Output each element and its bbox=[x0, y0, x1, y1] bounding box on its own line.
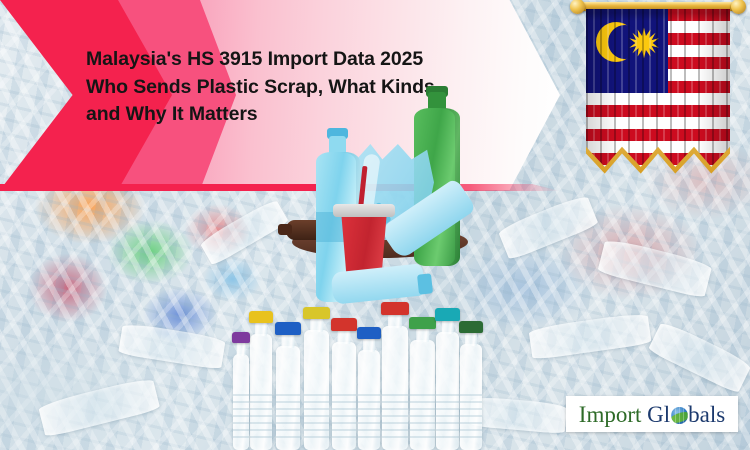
red-disposable-cup-icon bbox=[338, 212, 390, 274]
flag-cloth bbox=[586, 9, 730, 177]
pet-bottle bbox=[332, 342, 356, 450]
pet-bottle bbox=[460, 344, 482, 450]
pet-bottle bbox=[276, 346, 300, 450]
bottle-cap bbox=[459, 321, 483, 333]
bottle-cap bbox=[275, 322, 301, 335]
bottle-cap bbox=[232, 332, 250, 343]
bottle-ribs bbox=[250, 394, 272, 440]
infographic-banner: Malaysia's HS 3915 Import Data 2025 Who … bbox=[0, 0, 750, 450]
pet-bottle bbox=[436, 332, 459, 450]
bottle-cap bbox=[249, 311, 273, 323]
plastic-waste-illustration bbox=[286, 108, 496, 308]
star-14-point-icon bbox=[628, 27, 660, 59]
title-line-2: Who Sends Plastic Scrap, What Kinds, bbox=[86, 74, 516, 102]
logo-word-import: Import bbox=[579, 402, 642, 427]
cup-lid bbox=[333, 204, 395, 217]
logo-word-globals-post: bals bbox=[688, 402, 725, 427]
pet-bottle bbox=[233, 354, 249, 450]
flat-bottle-cap bbox=[417, 273, 433, 294]
bottle-ribs bbox=[382, 394, 408, 440]
bottle-cap bbox=[409, 317, 436, 329]
bottle-cap bbox=[331, 318, 357, 331]
pet-bottle bbox=[410, 340, 435, 450]
title-line-1: Malaysia's HS 3915 Import Data 2025 bbox=[86, 46, 516, 74]
malaysia-flag-banner bbox=[582, 2, 734, 187]
bottle-cap bbox=[381, 302, 409, 315]
globe-icon bbox=[671, 407, 688, 424]
bottle-cap bbox=[435, 308, 460, 321]
logo-word-globals-pre: Gl bbox=[647, 402, 670, 427]
import-globals-logo[interactable]: Import Glbals bbox=[566, 396, 738, 432]
pet-bottle bbox=[250, 334, 272, 450]
bottle-ribs bbox=[304, 394, 329, 440]
pet-bottle bbox=[304, 330, 329, 450]
bottle-ribs bbox=[233, 394, 249, 440]
pet-bottle bbox=[358, 350, 380, 450]
bottle-ribs bbox=[358, 394, 380, 440]
bottle-ribs bbox=[410, 394, 435, 440]
brown-bottle-neck bbox=[278, 224, 292, 235]
bottle-cap bbox=[303, 307, 330, 319]
bottle-ribs bbox=[332, 394, 356, 440]
bottle-cap bbox=[357, 327, 381, 339]
bottle-ribs bbox=[460, 394, 482, 440]
pet-bottle-row bbox=[232, 296, 484, 450]
flag-finial-left-icon bbox=[570, 0, 585, 14]
pet-bottle bbox=[382, 326, 408, 450]
bottle-ribs bbox=[436, 394, 459, 440]
bottle-ribs bbox=[276, 394, 300, 440]
